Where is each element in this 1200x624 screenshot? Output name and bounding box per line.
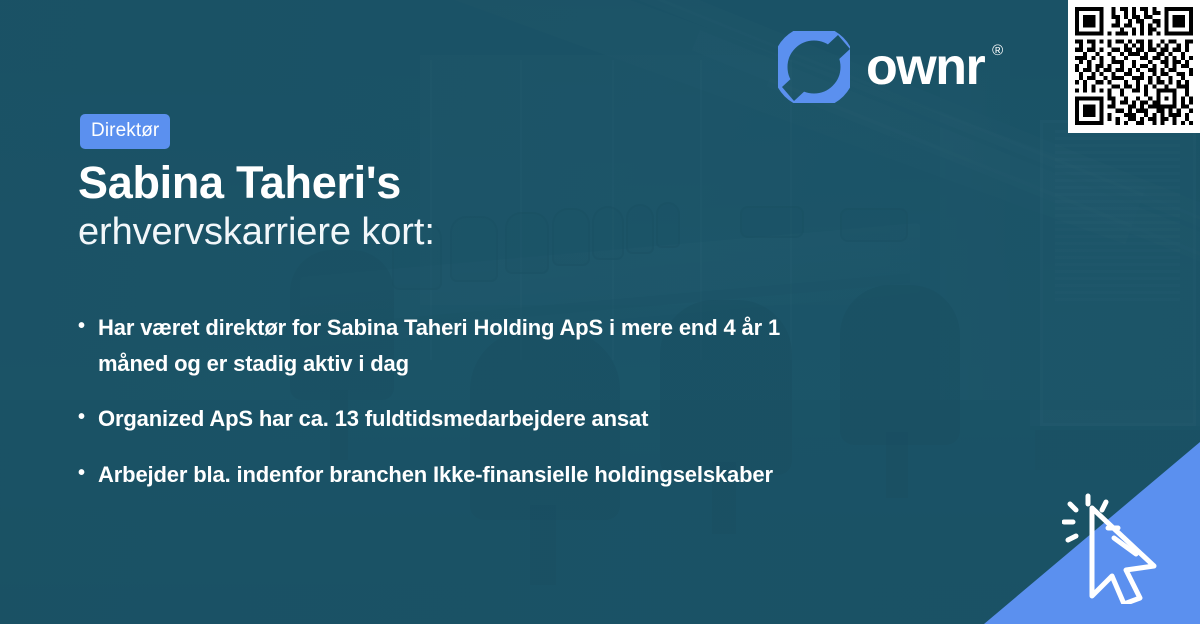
ownr-wordmark-text: ownr [866,38,984,96]
list-item-text: Har været direktør for Sabina Taheri Hol… [98,310,838,381]
list-item: • Arbejder bla. indenfor branchen Ikke-f… [78,457,1018,493]
page-title-line2: erhvervskarriere kort: [78,212,435,254]
role-badge: Direktør [80,114,170,149]
click-cursor-icon [1062,492,1188,604]
page-title-line1: Sabina Taheri's [78,159,401,208]
list-item-text: Arbejder bla. indenfor branchen Ikke-fin… [98,457,838,493]
list-item: • Har været direktør for Sabina Taheri H… [78,310,1018,381]
registered-trademark-icon: ® [992,43,1003,58]
card-content: Direktør Sabina Taheri's erhvervskarrier… [0,0,1200,624]
ownr-mark-icon [778,31,850,103]
bullet-icon: • [78,310,98,342]
list-item-text: Organized ApS har ca. 13 fuldtidsmedarbe… [98,401,838,437]
list-item: • Organized ApS har ca. 13 fuldtidsmedar… [78,401,1018,437]
ownr-logo: ownr® [778,31,984,103]
business-card: Direktør Sabina Taheri's erhvervskarrier… [0,0,1200,624]
bullet-icon: • [78,457,98,489]
bullet-icon: • [78,401,98,433]
ownr-wordmark: ownr® [866,41,984,93]
fact-list: • Har været direktør for Sabina Taheri H… [78,310,1018,513]
qr-code[interactable] [1068,0,1200,133]
